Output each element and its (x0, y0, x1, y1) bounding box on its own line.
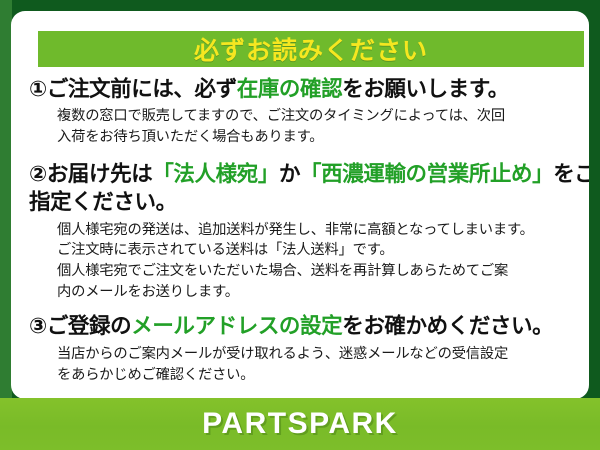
notice-item-1-heading-part-1: 在庫の確認 (237, 77, 343, 101)
notice-item-1-heading-part-2: をお願いします。 (342, 77, 509, 101)
notice-item-2-body-line-0: 個人様宅宛の発送は、追加送料が発生し、非常に高額となってしまいます。 (57, 220, 589, 241)
notice-item-3-heading-part-2: をお確かめください。 (342, 314, 553, 338)
notice-item-2-body: 個人様宅宛の発送は、追加送料が発生し、非常に高額となってしまいます。 ご注文時に… (23, 220, 589, 303)
notice-item-2-body-line-3: 内のメールをお送りします。 (57, 282, 589, 303)
notice-item-2-marker: ② (29, 162, 47, 186)
notice-item-2-heading-part-1: 「法人様宛」 (152, 162, 279, 186)
notice-card: 必ずお読みください ①ご注文前には、必ず在庫の確認をお願いします。 複数の窓口で… (11, 11, 589, 399)
notice-item-2-heading-part-3: 「西濃運輸の営業所止め」 (300, 162, 553, 186)
notice-item-1-heading: ①ご注文前には、必ず在庫の確認をお願いします。 (23, 75, 589, 103)
footer-band: PARTSPARK (0, 398, 600, 450)
notice-item-1: ①ご注文前には、必ず在庫の確認をお願いします。 複数の窓口で販売してますので、ご… (23, 75, 589, 148)
notice-item-1-heading-part-0: ご注文前には、必ず (47, 77, 237, 101)
notice-item-2-body-line-2: 個人様宅宛でご注文をいただいた場合、送料を再計算しあらためてご案 (57, 261, 589, 282)
notice-item-3-heading-part-0: ご登録の (47, 314, 131, 338)
notice-item-3-body-line-1: をあらかじめご確認ください。 (57, 365, 589, 386)
frame-right-border (588, 0, 600, 400)
notice-item-3-marker: ③ (29, 314, 47, 338)
page-title: 必ずお読みください (194, 31, 428, 67)
notice-item-2-heading-part-2: か (279, 162, 300, 186)
notice-item-1-body: 複数の窓口で販売してますので、ご注文のタイミングによっては、次回 入荷をお待ち頂… (23, 106, 589, 147)
notice-item-2-heading-part-0: お届け先は (47, 162, 153, 186)
notice-item-1-body-line-0: 複数の窓口で販売してますので、ご注文のタイミングによっては、次回 (57, 106, 589, 127)
notice-item-1-marker: ① (29, 77, 47, 101)
notice-item-2: ②お届け先は「法人様宛」か「西濃運輸の営業所止め」をご指定ください。 個人様宅宛… (23, 160, 589, 303)
notice-item-3-heading: ③ご登録のメールアドレスの設定をお確かめください。 (23, 312, 589, 340)
notice-item-2-heading: ②お届け先は「法人様宛」か「西濃運輸の営業所止め」をご指定ください。 (23, 160, 589, 217)
notice-item-3: ③ご登録のメールアドレスの設定をお確かめください。 当店からのご案内メールが受け… (23, 312, 589, 385)
brand-logo-partspark: PARTSPARK (202, 407, 398, 441)
notice-item-3-body: 当店からのご案内メールが受け取れるよう、迷惑メールなどの受信設定 をあらかじめご… (23, 344, 589, 385)
notice-item-2-body-line-1: ご注文時に表示されている送料は「法人送料」です。 (57, 240, 589, 261)
notice-item-3-body-line-0: 当店からのご案内メールが受け取れるよう、迷惑メールなどの受信設定 (57, 344, 589, 365)
notice-item-3-heading-part-1: メールアドレスの設定 (131, 314, 342, 338)
title-banner: 必ずお読みください (38, 31, 584, 67)
notice-item-1-body-line-1: 入荷をお待ち頂いただく場合もあります。 (57, 127, 589, 148)
notice-image: 必ずお読みください ①ご注文前には、必ず在庫の確認をお願いします。 複数の窓口で… (0, 0, 600, 450)
notice-content: ①ご注文前には、必ず在庫の確認をお願いします。 複数の窓口で販売してますので、ご… (23, 75, 589, 387)
